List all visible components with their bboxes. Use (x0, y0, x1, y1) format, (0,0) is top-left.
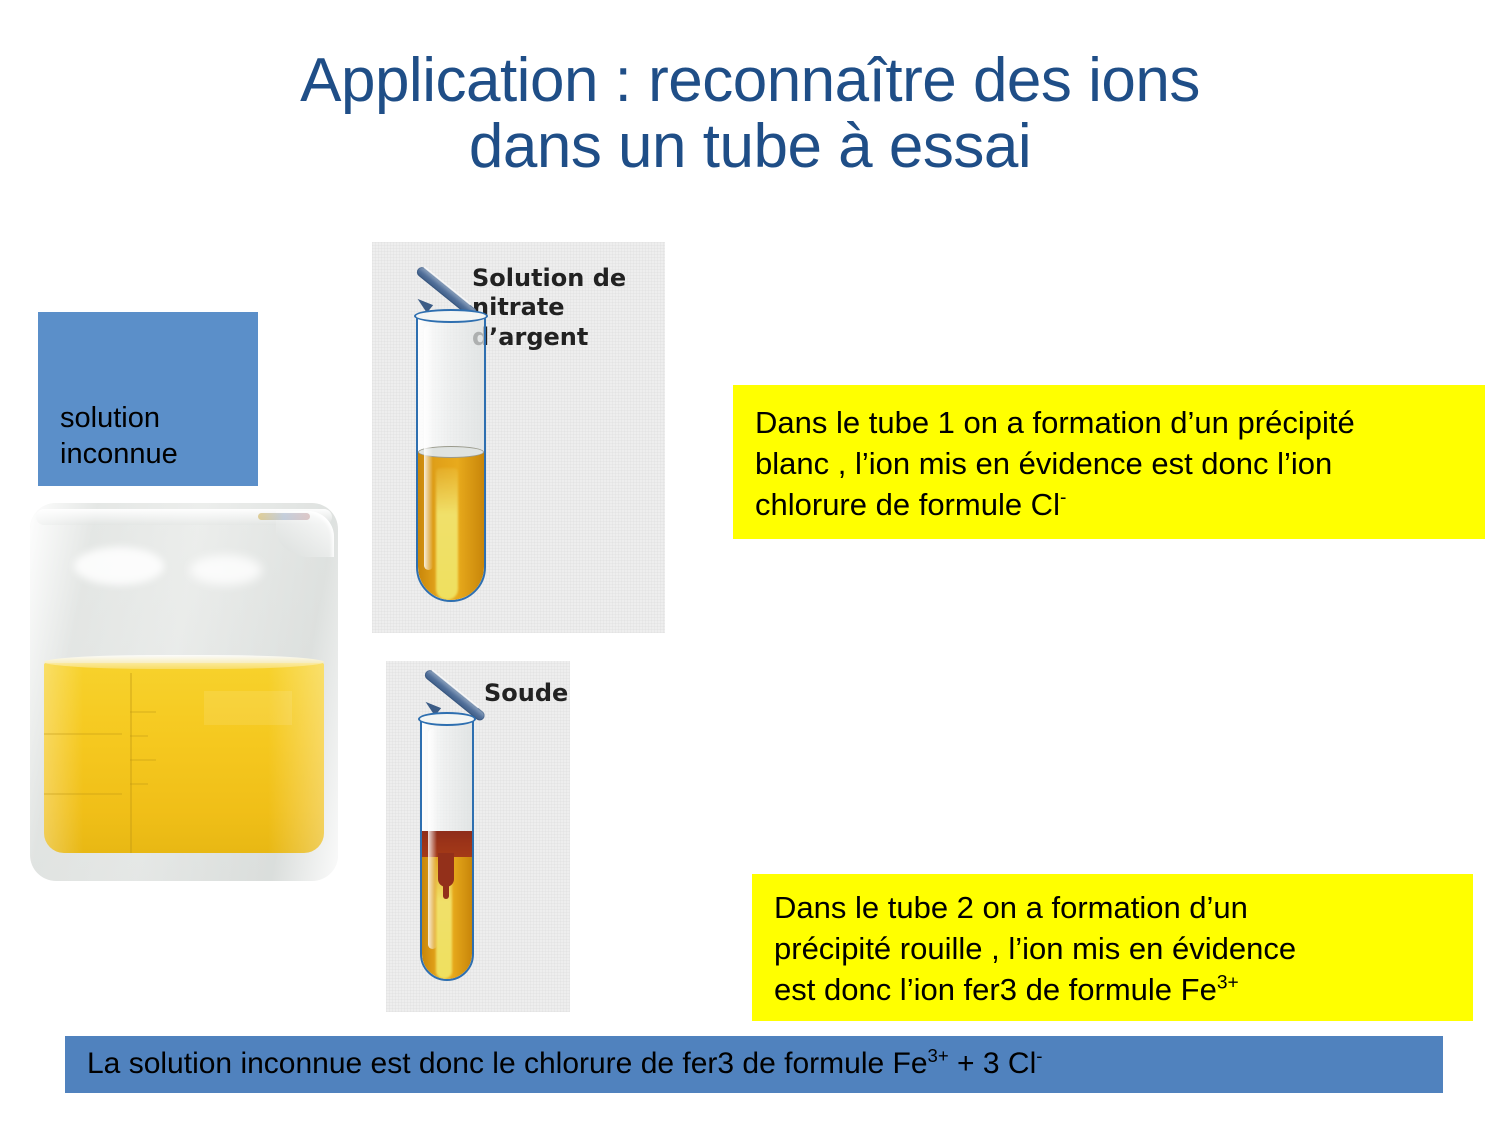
figure-caption-tube1: Solution de nitrate d’argent (472, 264, 665, 352)
callout1-line3-text: chlorure de formule Cl (755, 487, 1060, 522)
beaker-graduation-line (130, 759, 156, 761)
beaker-graduation-line (44, 793, 122, 795)
beaker-graduation-line (44, 733, 122, 735)
callout1-line2: blanc , l’ion mis en évidence est donc l… (755, 444, 1475, 485)
callout2-line3: est donc l’ion fer3 de formule Fe3+ (774, 970, 1464, 1011)
solution-inconnue-label-text: solution inconnue (60, 400, 250, 473)
conclusion-text-mid: + 3 Cl (949, 1047, 1037, 1080)
slide-canvas: Application : reconnaître des ions dans … (0, 0, 1500, 1125)
page-title: Application : reconnaître des ions dans … (60, 48, 1440, 181)
conclusion-bar-text: La solution inconnue est donc le chlorur… (87, 1047, 1042, 1081)
conclusion-bar: La solution inconnue est donc le chlorur… (65, 1036, 1443, 1093)
beaker-graduation-line (130, 735, 148, 737)
beaker-highlight (74, 547, 164, 585)
pipette-icon (426, 667, 506, 715)
beaker-reflection (204, 691, 292, 725)
beaker-liquid-surface (44, 655, 324, 669)
figure-panel-tube2: Soude (386, 661, 570, 1012)
callout2-line3-text: est donc l’ion fer3 de formule Fe (774, 972, 1217, 1007)
callout-box-tube2: Dans le tube 2 on a formation d’un préci… (752, 874, 1473, 1021)
beaker-yellow-liquid: ‌ (44, 663, 324, 853)
callout1-line1: Dans le tube 1 on a formation d’un préci… (755, 403, 1475, 444)
beaker-graduation-line (130, 711, 156, 713)
beaker-rim-color-fleck (258, 513, 310, 520)
beaker-photo: ‌ (30, 503, 338, 881)
test-tube-2 (420, 719, 474, 981)
beaker-graduation-line (130, 783, 148, 785)
conclusion-fe-superscript: 3+ (928, 1045, 949, 1066)
callout-box-tube1: Dans le tube 1 on a formation d’un préci… (733, 385, 1485, 539)
callout2-charge-superscript: 3+ (1217, 972, 1239, 993)
callout2-line2: précipité rouille , l’ion mis en évidenc… (774, 929, 1464, 970)
callout1-line3: chlorure de formule Cl- (755, 485, 1475, 526)
callout1-charge-superscript: - (1060, 487, 1066, 508)
beaker-graduation-line (130, 673, 132, 853)
callout2-line1: Dans le tube 2 on a formation d’un (774, 888, 1464, 929)
conclusion-cl-superscript: - (1036, 1045, 1042, 1066)
beaker-highlight (190, 555, 262, 585)
solution-inconnue-label-box: solution inconnue (38, 312, 258, 486)
conclusion-text-pre: La solution inconnue est donc le chlorur… (87, 1047, 928, 1080)
figure-panel-tube1: Solution de nitrate d’argent (372, 242, 665, 633)
pipette-icon (418, 264, 498, 312)
test-tube-1 (416, 316, 486, 602)
